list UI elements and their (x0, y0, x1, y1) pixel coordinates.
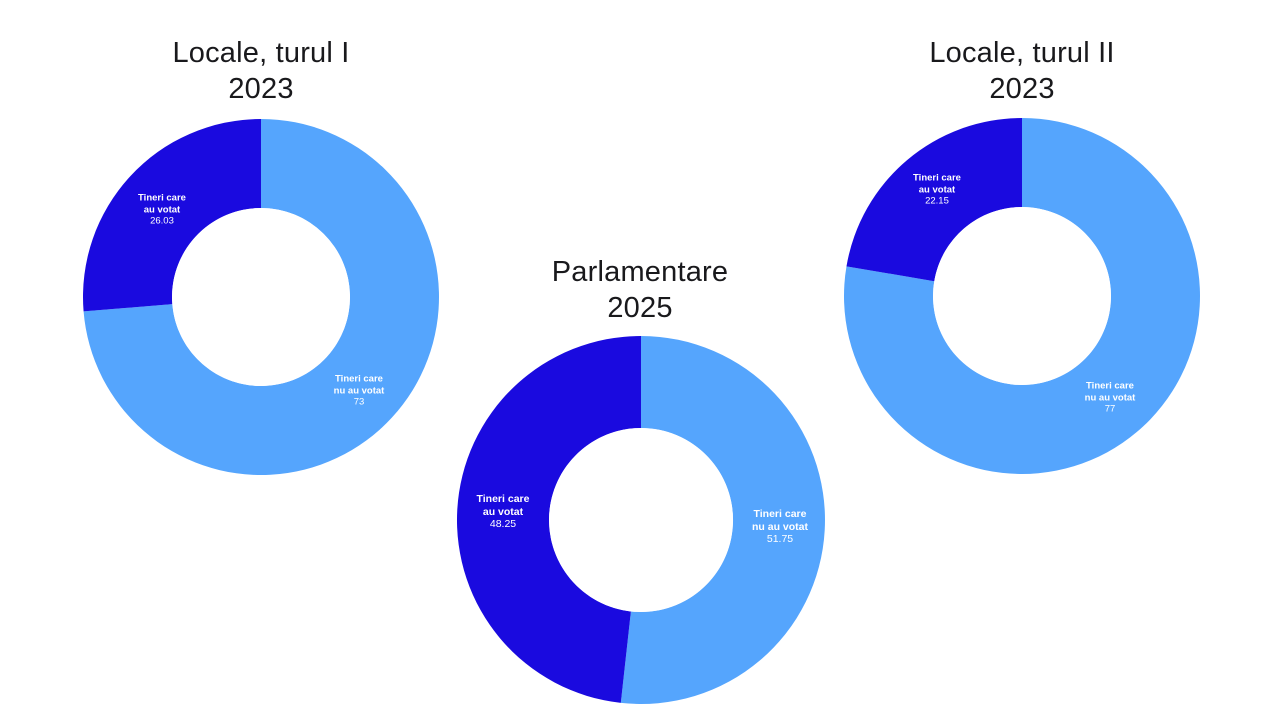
chart-locale-turul-ii-2023: Locale, turul II 2023 Tineri care au vot… (762, 0, 1280, 520)
slide-canvas: Locale, turul I 2023 Tineri care au vota… (0, 0, 1280, 720)
donut-chart-locale-turul-ii (844, 118, 1200, 474)
chart-title-line1: Locale, turul I (172, 37, 349, 69)
chart-title-locale-turul-i: Locale, turul I 2023 (172, 35, 349, 107)
chart-title-locale-turul-ii: Locale, turul II 2023 (929, 35, 1114, 107)
chart-title-line2: 2023 (172, 71, 349, 107)
chart-title-line2: 2023 (929, 71, 1114, 107)
donut-hole (172, 208, 350, 386)
donut-hole (549, 428, 733, 612)
chart-title-line2: 2025 (552, 290, 729, 326)
chart-title-line1: Parlamentare (552, 256, 729, 288)
chart-title-line1: Locale, turul II (929, 37, 1114, 69)
chart-title-parlamentare: Parlamentare 2025 (552, 254, 729, 326)
donut-hole (933, 207, 1111, 385)
